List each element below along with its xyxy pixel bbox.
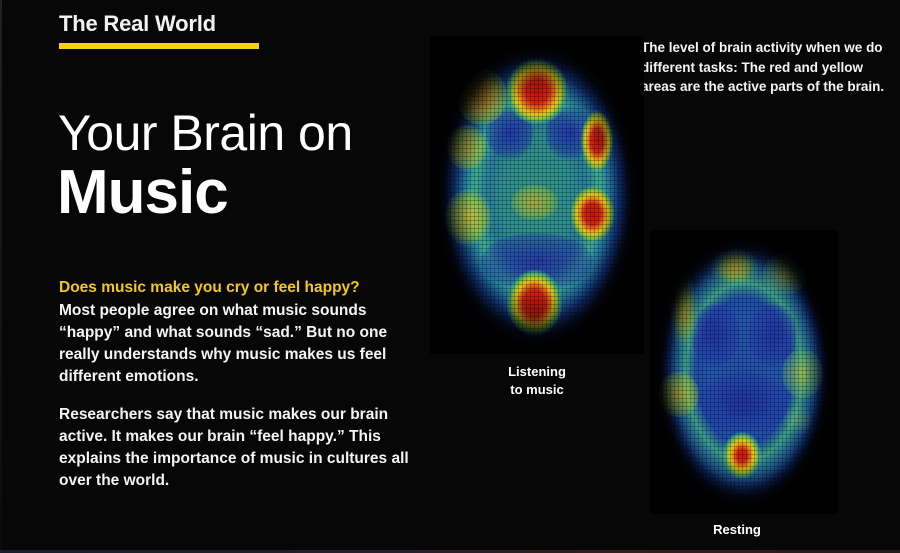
article-body: Does music make you cry or feel happy? M… — [59, 278, 419, 492]
skull-edge-mask — [430, 36, 644, 354]
article-paragraph-2: Researchers say that music makes our bra… — [59, 404, 419, 492]
left-edge-artifact — [0, 0, 2, 553]
pet-scan-resting — [650, 230, 838, 514]
scan-label-resting: Resting — [670, 521, 804, 539]
slide-root: The Real World Your Brain on Music Does … — [0, 0, 900, 553]
scan-label-listening: Listeningto music — [470, 363, 604, 398]
article-lead-question: Does music make you cry or feel happy? — [59, 278, 419, 299]
scan-label-listening-line-1: Listening — [508, 364, 566, 379]
scan-label-listening-line-2: to music — [510, 382, 563, 397]
section-kicker: The Real World — [59, 11, 216, 37]
skull-edge-mask — [650, 230, 838, 514]
pet-scan-listening-field — [430, 36, 644, 354]
figure-caption: The level of brain activity when we do d… — [641, 38, 891, 97]
page-title-line-1: Your Brain on — [58, 108, 353, 158]
page-title-line-2: Music — [57, 162, 228, 224]
pet-scan-listening-to-music — [430, 36, 644, 354]
article-paragraph-1: Most people agree on what music sounds “… — [59, 300, 419, 388]
kicker-underline-rule — [59, 43, 259, 49]
pet-scan-resting-field — [650, 230, 838, 514]
